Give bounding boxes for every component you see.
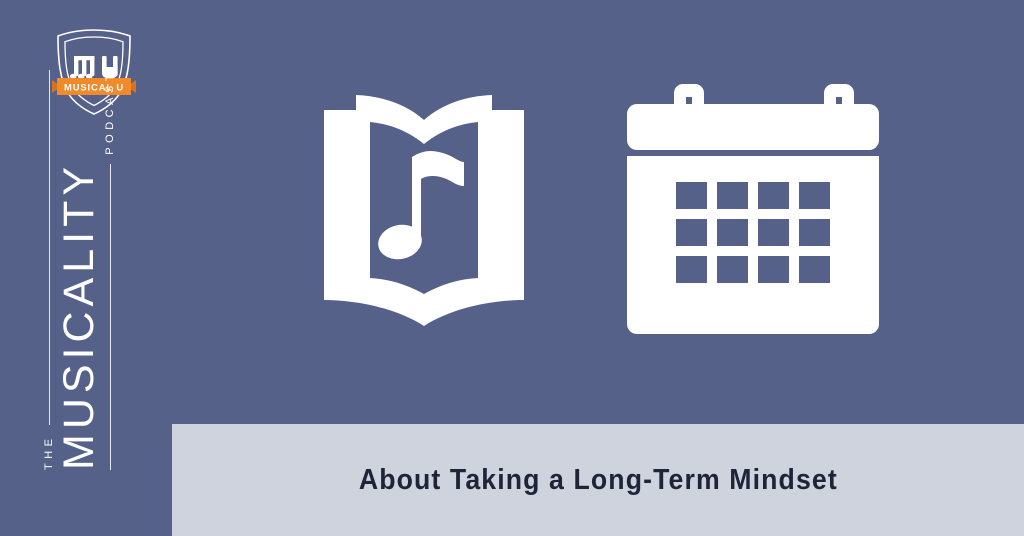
lockup-rule-top: [49, 70, 50, 426]
lockup-word-the: THE: [44, 435, 55, 471]
calendar-body-grid: [627, 156, 879, 334]
music-note-icon: [375, 151, 464, 263]
calendar-icon: [627, 82, 879, 336]
lockup-row-podcast: PODCAST: [105, 70, 116, 470]
lockup-row-the: THE: [44, 70, 55, 470]
podcast-cover-artwork: MUSICAL U THE MUSICALITY PODCAST: [0, 0, 1024, 536]
lockup-word-musicality: MUSICALITY: [55, 162, 103, 470]
episode-title-panel: About Taking a Long-Term Mindset: [172, 424, 1024, 536]
lockup-word-podcast: PODCAST: [105, 70, 116, 155]
calendar-header-band: [627, 104, 879, 150]
episode-title: About Taking a Long-Term Mindset: [358, 464, 837, 497]
lockup-word-musicality-wrap: MUSICALITY: [58, 162, 101, 470]
podcast-title-lockup: THE MUSICALITY PODCAST: [5, 40, 155, 500]
lockup-rule-bottom: [110, 164, 111, 470]
book-pages-shape: [324, 95, 524, 326]
brand-strip: MUSICAL U THE MUSICALITY PODCAST: [0, 0, 172, 536]
open-book-music-note-icon: [294, 82, 554, 332]
artwork-icons-row: [172, 0, 1024, 424]
